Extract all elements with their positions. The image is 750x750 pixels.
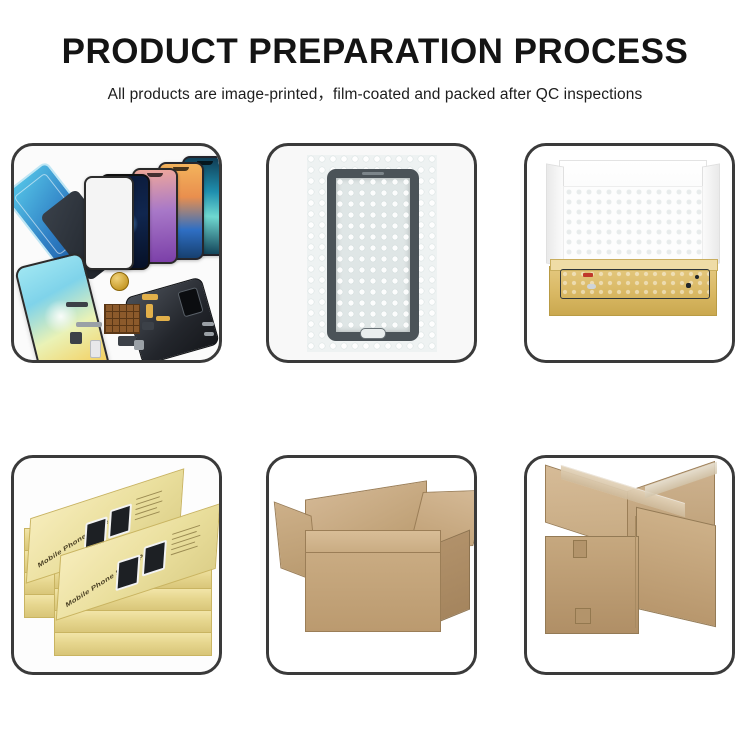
step-panel-2: II	[266, 143, 477, 363]
foam-insert	[563, 186, 703, 270]
carton-flap-tab	[573, 540, 587, 558]
carton-right-face	[636, 507, 716, 627]
carton-flap-tab	[575, 608, 591, 624]
camera-module-icon	[177, 287, 203, 318]
step-panel-3: III	[524, 143, 735, 363]
step-panel-5: V	[266, 455, 477, 675]
bubble-wrap-sheet	[307, 155, 437, 352]
wrapped-screen-in-box	[560, 269, 710, 299]
earpiece-icon	[362, 172, 384, 175]
vibrator-part	[142, 322, 154, 330]
flex-cable-part	[66, 302, 88, 307]
box-phone-image	[142, 540, 167, 577]
red-label-mark	[583, 273, 593, 277]
gold-connector-part	[142, 294, 158, 300]
gold-connector-part	[146, 304, 153, 318]
carton-side-face	[438, 530, 470, 623]
product-preparation-infographic: PRODUCT PREPARATION PROCESS All products…	[0, 0, 750, 750]
carton-front-face	[545, 536, 639, 634]
home-button-icon	[360, 328, 386, 339]
step-image-4: Mobile Phone Spare Parts Mobile Phone Sp…	[14, 458, 219, 672]
phone-glass-protector	[84, 176, 134, 270]
step-image-6	[527, 458, 732, 672]
steps-grid: I II	[0, 0, 750, 750]
retail-box-stack: Mobile Phone Spare Parts Mobile Phone Sp…	[20, 470, 219, 660]
step-image-3	[527, 146, 732, 360]
step-panel-4: Mobile Phone Spare Parts Mobile Phone Sp…	[11, 455, 222, 675]
sensor-dot-icon	[686, 283, 691, 288]
step-image-1	[14, 146, 219, 360]
pry-tool-part	[202, 322, 214, 326]
step-image-5	[269, 458, 474, 672]
carton-edge-seam	[635, 516, 636, 628]
metal-bracket-part	[76, 322, 102, 327]
box-phone-image	[115, 554, 140, 591]
speaker-coil-part	[110, 272, 129, 291]
phone-lineup-graphic	[84, 154, 219, 274]
camera-dot-icon	[695, 275, 699, 279]
phone-notch-icon	[147, 173, 163, 177]
carton-front-face	[305, 552, 441, 632]
battery-connector-part	[90, 340, 101, 358]
small-module-part	[70, 332, 82, 344]
screw-set-part	[134, 340, 144, 350]
retail-box-edge	[54, 632, 212, 656]
home-button-icon	[587, 284, 596, 289]
step-image-2	[269, 146, 474, 360]
phone-screen-assembly	[327, 169, 419, 341]
chip-board-part	[104, 304, 140, 334]
bubble-wrap-overlay	[336, 178, 410, 332]
kraft-box-tray	[549, 266, 717, 316]
flex-cable-part	[156, 316, 170, 321]
pry-tool-part	[204, 332, 214, 336]
step-panel-1: I	[11, 143, 222, 363]
step-panel-6: VI	[524, 455, 735, 675]
